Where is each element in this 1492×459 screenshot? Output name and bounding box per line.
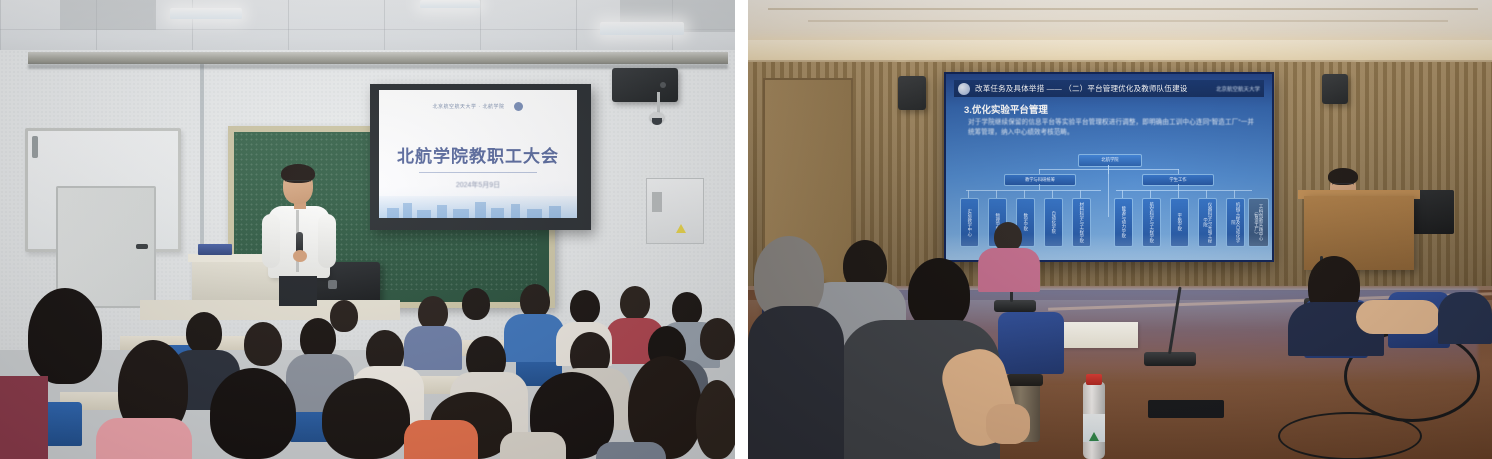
right-photo-conference-meeting: 改革任务及具体举措 —— （二）平台管理优化及教师队伍建设 北京航空航天大学 3… <box>748 0 1492 459</box>
photo-vignette <box>0 0 735 459</box>
photo-collage: 北京航空航天大学 · 北航学院 北航学院教职工大会 2024年5月9日 <box>0 0 1492 459</box>
left-photo-classroom-meeting: 北京航空航天大学 · 北航学院 北航学院教职工大会 2024年5月9日 <box>0 0 735 459</box>
photo-vignette <box>748 0 1492 459</box>
collage-gutter <box>735 0 748 459</box>
